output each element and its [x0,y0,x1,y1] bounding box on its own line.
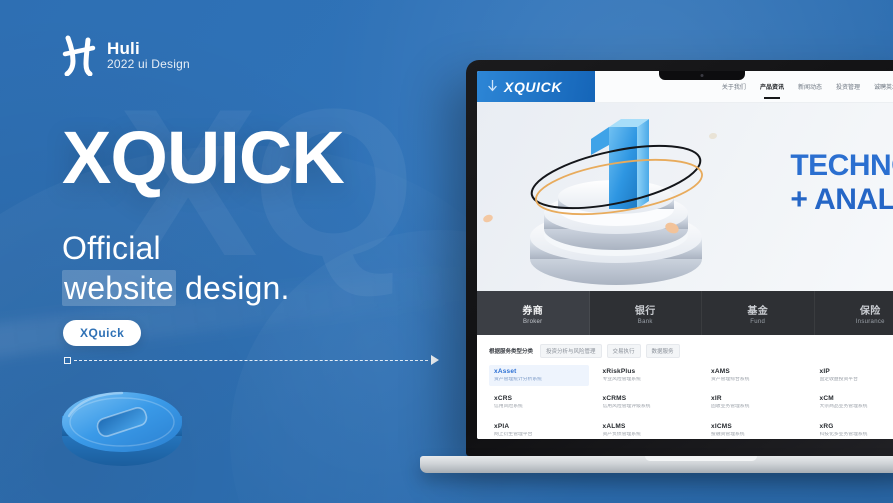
laptop-mockup: XQUICK 关于我们 产品资讯 新闻动态 投资管理 诚聘英才 [466,60,893,456]
nav-link-products[interactable]: 产品资讯 [760,82,784,92]
product-desc: 专业风险管理系统 [603,377,693,383]
site-hero-banner: TECHNO + ANALYT [477,103,893,291]
tab-broker-en: Broker [523,319,542,325]
laptop-screen: XQUICK 关于我们 产品资讯 新闻动态 投资管理 诚聘英才 [477,71,893,439]
tab-bank[interactable]: 银行 Bank [590,291,703,335]
product-cell-xip[interactable]: xIP 固定收益投资平台 [815,365,893,386]
product-grid: xAsset 资产管理统计分析系统 xRiskPlus 专业风险管理系统 xAM… [489,365,893,439]
product-cell-xams[interactable]: xAMS 资产管理综合系统 [706,365,806,386]
category-tab-bar: 券商 Broker 银行 Bank 基金 Fund 保险 Insurance [477,291,893,335]
tab-fund-cn: 基金 [747,302,768,317]
tab-fund[interactable]: 基金 Fund [702,291,815,335]
site-hero-headline: TECHNO + ANALYT [790,149,893,216]
product-desc: 大宗商品业务管理系统 [820,404,893,410]
product-cell-xriskplus[interactable]: xRiskPlus 专业风险管理系统 [598,365,698,386]
huli-monogram-icon [62,34,96,76]
divider-dashes [74,360,428,361]
product-desc: 投融资管理系统 [711,432,801,438]
laptop-base-notch [645,456,757,461]
hero-subtitle: Official website design. [62,228,290,309]
nav-link-news[interactable]: 新闻动态 [798,82,822,92]
brand-lockup: Huli 2022 ui Design [62,34,190,76]
filter-chip-risk[interactable]: 投资分析与风险管理 [540,344,602,358]
filter-chip-data[interactable]: 数据服务 [646,344,680,358]
product-desc: 信用风险管理评级系统 [603,404,693,410]
webcam-icon [659,71,745,80]
product-cell-xir[interactable]: xIR 固收业务管理系统 [706,392,806,413]
product-cell-xrg[interactable]: xRG 科技化多业务管理系统 [815,420,893,439]
brand-subtitle: 2022 ui Design [107,58,190,71]
tab-bank-cn: 银行 [635,302,656,317]
product-desc: 科技化多业务管理系统 [820,432,893,438]
nav-link-careers[interactable]: 诚聘英才 [874,82,893,92]
3d-number-one-podium-icon [491,109,741,289]
xquick-pill-button[interactable]: XQuick [63,320,141,346]
filter-chip-trading[interactable]: 交易执行 [607,344,641,358]
product-code: xPIA [494,423,584,431]
product-cell-xasset[interactable]: xAsset 资产管理统计分析系统 [489,365,589,386]
product-desc: 资产管理综合系统 [711,377,801,383]
download-arrow-icon [488,80,497,93]
site-nav-links: 关于我们 产品资讯 新闻动态 投资管理 诚聘英才 [722,71,893,102]
dashed-divider [64,353,439,367]
site-hero-headline-line-2: + ANALYT [790,183,893,217]
hero-subtitle-line-2: website design. [62,268,290,308]
product-cell-xalms[interactable]: xALMS 资产负债管理系统 [598,420,698,439]
product-desc: 网上衍生管理平台 [494,432,584,438]
hero-subtitle-highlight: website [62,270,176,306]
product-desc: 资产负债管理系统 [603,432,693,438]
laptop-lid: XQUICK 关于我们 产品资讯 新闻动态 投资管理 诚聘英才 [466,60,893,456]
product-cell-xcrms[interactable]: xCRMS 信用风险管理评级系统 [598,392,698,413]
page-title: XQUICK [62,122,344,195]
nav-link-investment[interactable]: 投资管理 [836,82,860,92]
product-desc: 资产管理统计分析系统 [494,377,584,383]
arrow-right-icon [431,355,439,365]
site-hero-headline-line-1: TECHNO [790,149,893,183]
laptop-base [420,456,893,473]
square-marker-icon [64,357,71,364]
product-code: xIR [711,395,801,403]
hero-subtitle-rest: design. [176,270,290,306]
product-cell-xcm[interactable]: xCM 大宗商品业务管理系统 [815,392,893,413]
poster-canvas: XQ Huli 2022 ui Design XQUICK Official w… [0,0,893,503]
3d-blue-coin-icon [55,378,190,473]
tab-insurance[interactable]: 保险 Insurance [815,291,893,335]
tab-insurance-cn: 保险 [860,302,881,317]
product-code: xRG [820,423,893,431]
product-code: xAsset [494,368,584,376]
tab-bank-en: Bank [638,319,653,325]
hero-subtitle-line-1: Official [62,228,290,268]
site-logo[interactable]: XQUICK [477,71,595,102]
product-filter-label: 根据服务类型分类 [489,347,533,355]
product-code: xIP [820,368,893,376]
product-code: xAMS [711,368,801,376]
tab-broker-cn: 券商 [522,302,543,317]
product-code: xCRS [494,395,584,403]
tab-broker[interactable]: 券商 Broker [477,291,590,335]
product-code: xCRMS [603,395,693,403]
tab-fund-en: Fund [750,319,765,325]
product-code: xCM [820,395,893,403]
webcam-lens-icon [700,74,703,77]
brand-name: Huli [107,39,190,58]
tab-insurance-en: Insurance [856,319,885,325]
product-desc: 固收业务管理系统 [711,404,801,410]
nav-link-about[interactable]: 关于我们 [722,82,746,92]
product-code: xALMS [603,423,693,431]
product-filter-row: 根据服务类型分类 投资分析与风险管理 交易执行 数据服务 [489,344,893,358]
product-panel: 根据服务类型分类 投资分析与风险管理 交易执行 数据服务 xAsset 资产管理… [477,335,893,439]
product-cell-xcrs[interactable]: xCRS 信用风险系统 [489,392,589,413]
site-logo-text: XQUICK [504,79,562,95]
product-code: xICMS [711,423,801,431]
product-code: xRiskPlus [603,368,693,376]
product-desc: 固定收益投资平台 [820,377,893,383]
product-cell-xpia[interactable]: xPIA 网上衍生管理平台 [489,420,589,439]
product-cell-xicms[interactable]: xICMS 投融资管理系统 [706,420,806,439]
product-desc: 信用风险系统 [494,404,584,410]
